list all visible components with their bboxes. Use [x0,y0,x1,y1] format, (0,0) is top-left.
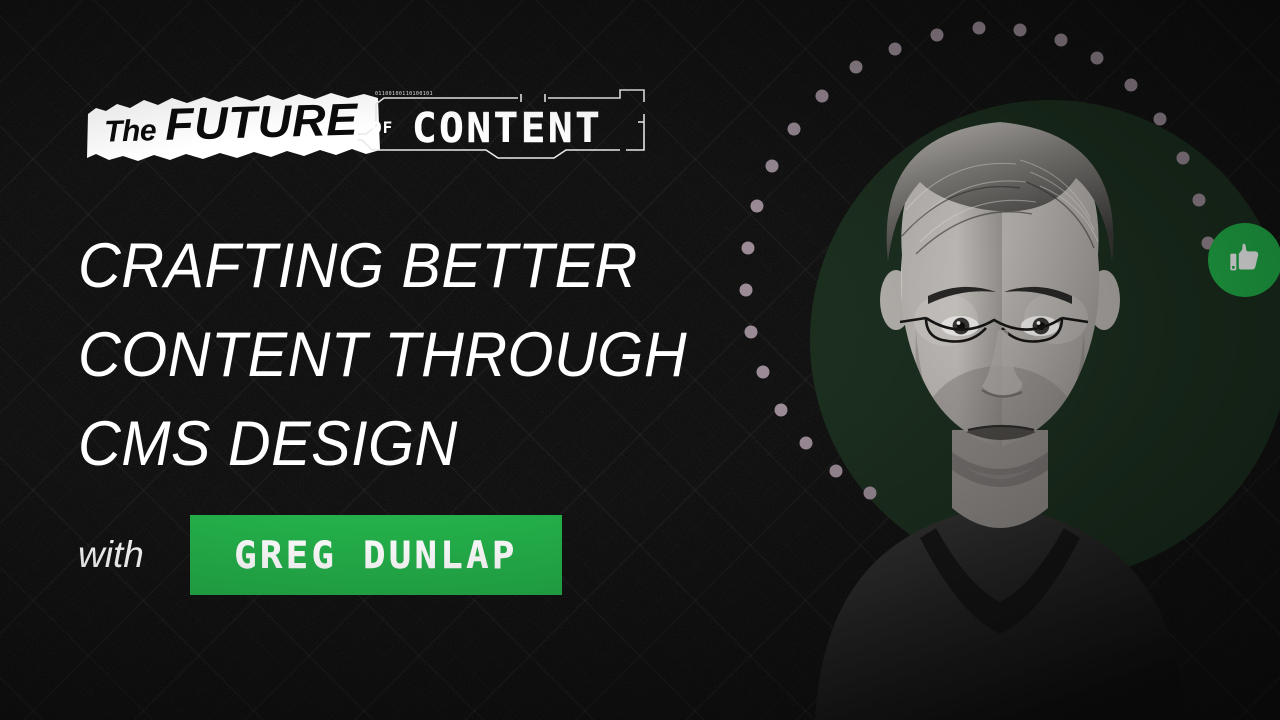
headline-line-2: CONTENT THROUGH [78,311,736,400]
headline-line-3: CMS DESIGN [78,400,736,489]
logo-of-word: OF [372,118,393,137]
page-title: CRAFTING BETTER CONTENT THROUGH CMS DESI… [78,222,736,489]
speaker-credit: with GREG DUNLAP [78,515,562,595]
logo-content-word: CONTENT [412,108,602,149]
thumbs-up-icon [1225,240,1265,280]
headline-line-1: CRAFTING BETTER [78,222,736,311]
thumbs-up-badge [1208,223,1280,297]
logo-binary-strip: 01100100110100101 [375,91,433,97]
title-card: The FUTURE 0110010011 [0,0,1280,720]
logo-the-word: The [104,114,157,149]
speaker-portrait [720,0,1280,720]
show-logo: The FUTURE 0110010011 [86,88,646,166]
speaker-name: GREG DUNLAP [234,534,518,577]
speaker-name-chip: GREG DUNLAP [190,515,562,595]
with-label: with [78,534,190,576]
artwork-panel [720,0,1280,720]
logo-the-future-text: The FUTURE [103,93,364,152]
logo-future-word: FUTURE [164,94,358,151]
